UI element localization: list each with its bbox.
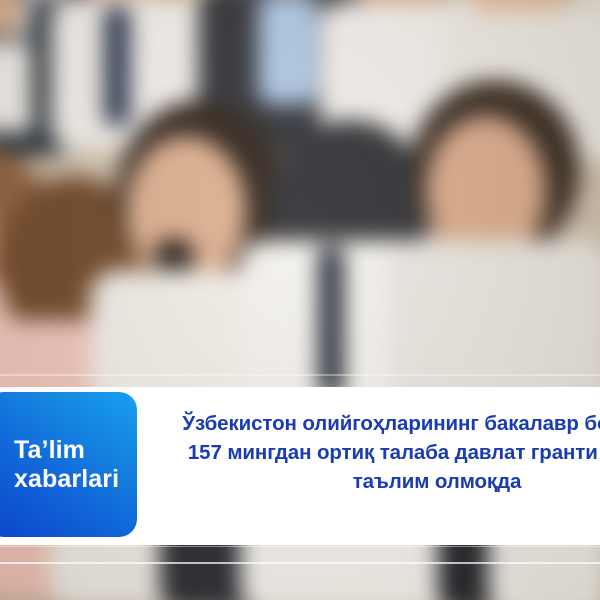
- headline-line-3: таълим олмоқда: [137, 467, 600, 496]
- caption-banner: Ta’lim xabarlari Ўзбекистон олийгоҳларин…: [0, 387, 600, 545]
- headline: Ўзбекистон олийгоҳларининг бакалавр босқ…: [137, 409, 600, 496]
- news-thumbnail-image: Ta’lim xabarlari Ўзбекистон олийгоҳларин…: [0, 0, 600, 600]
- category-badge[interactable]: Ta’lim xabarlari: [0, 392, 137, 537]
- category-badge-line-1: Ta’lim: [14, 436, 137, 465]
- headline-line-1: Ўзбекистон олийгоҳларининг бакалавр босқ…: [137, 409, 600, 438]
- headline-line-2: 157 мингдан ортиқ талаба давлат гранти а…: [137, 438, 600, 467]
- category-badge-line-2: xabarlari: [14, 465, 137, 494]
